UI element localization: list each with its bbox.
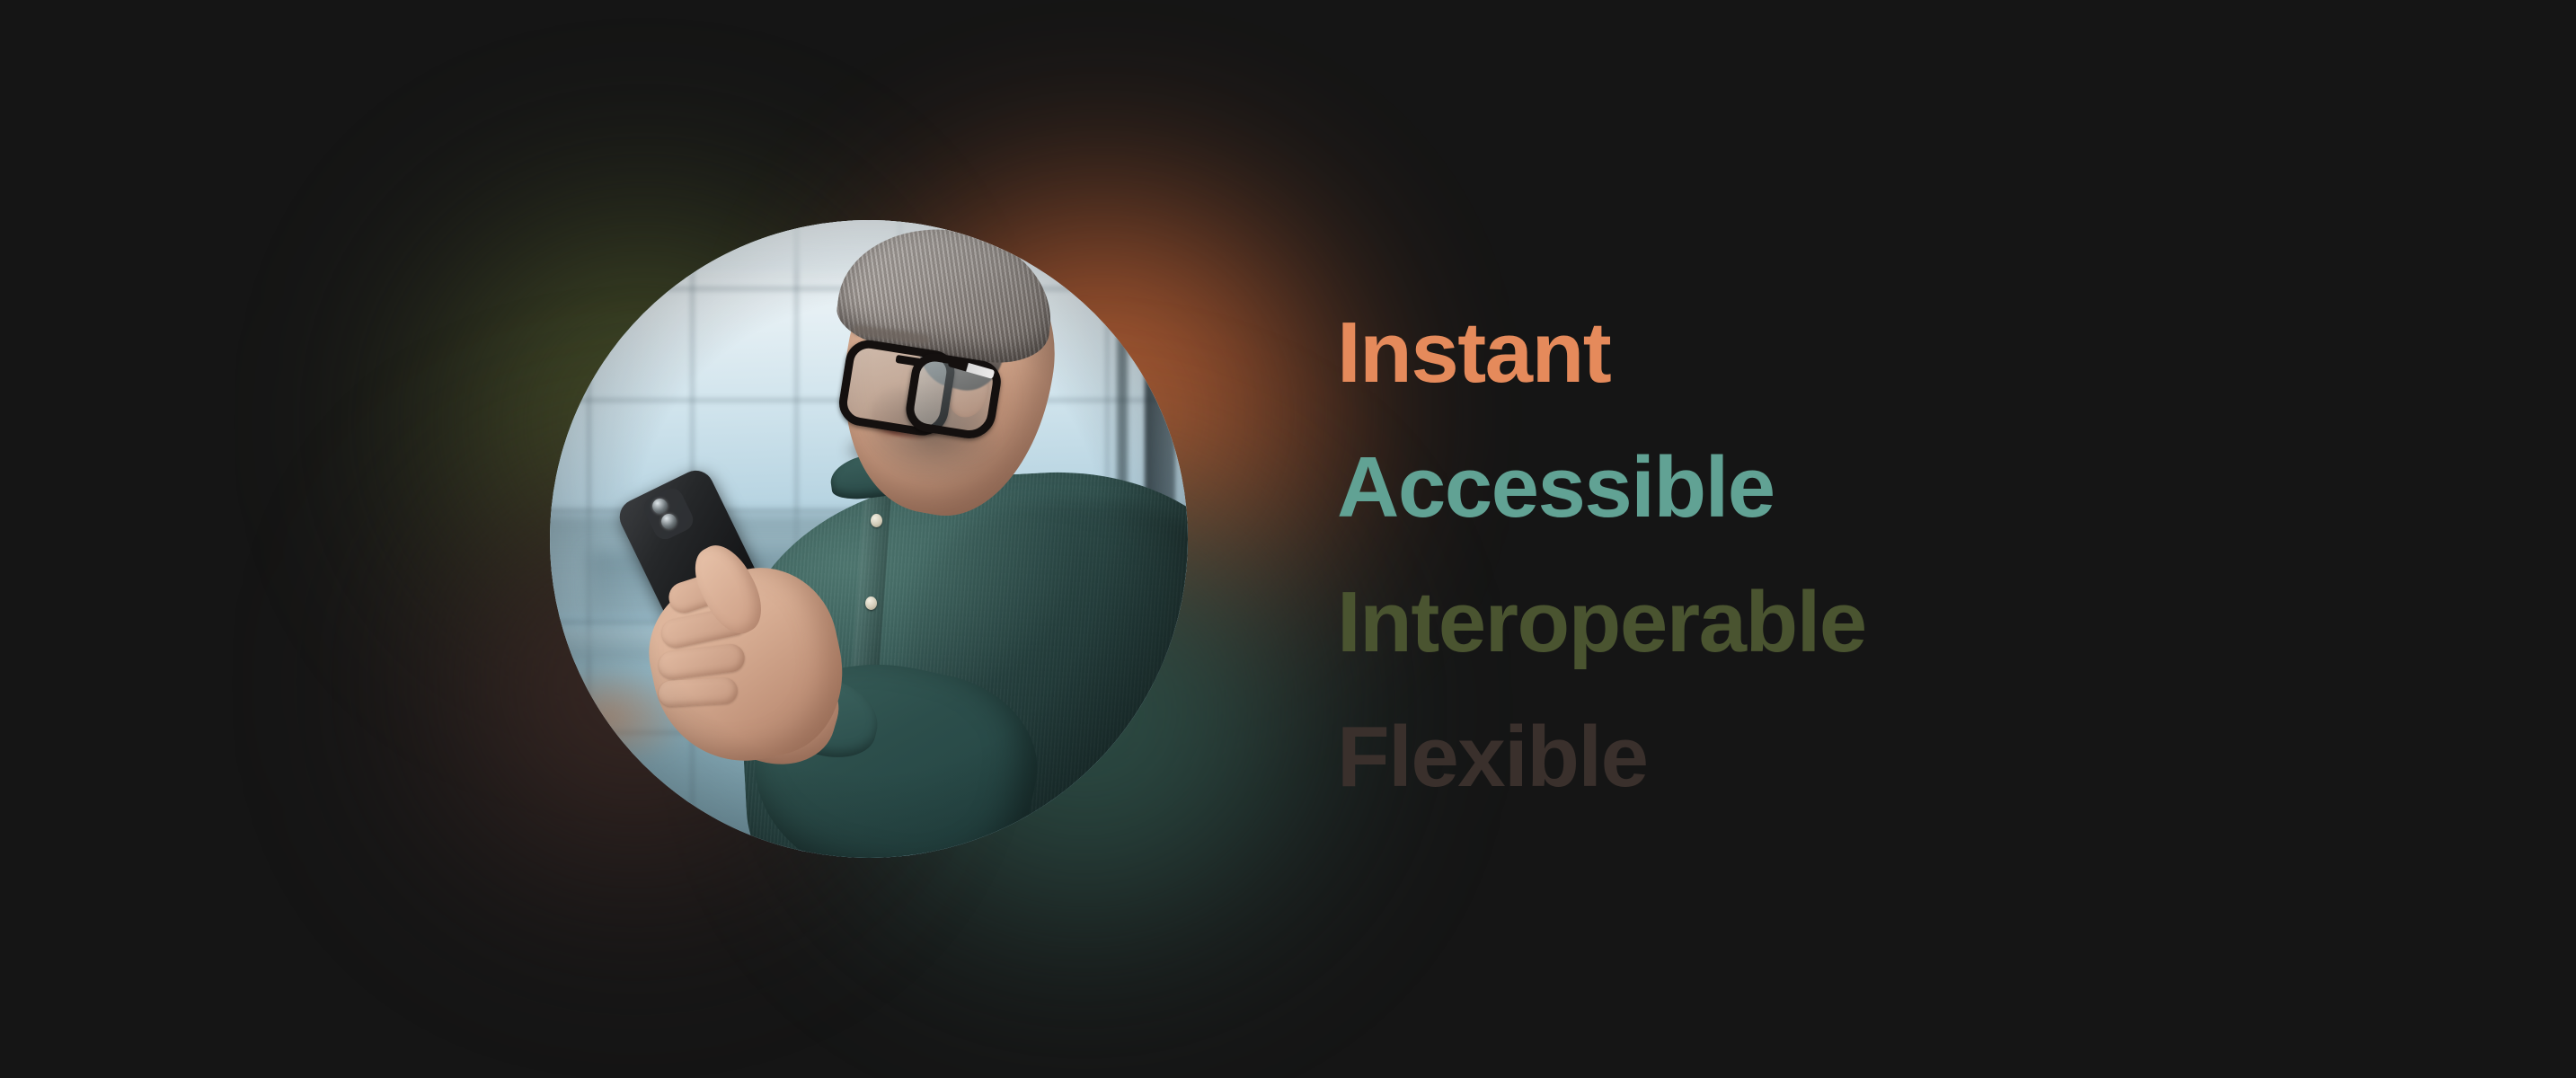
person-finger — [658, 677, 738, 708]
feature-word-list: Instant Accessible Interoperable Flexibl… — [1337, 286, 2415, 825]
feature-word-flexible: Flexible — [1337, 690, 2415, 825]
feature-word-accessible: Accessible — [1337, 420, 2415, 555]
hero-photo-image — [550, 220, 1188, 858]
smartphone-camera-lens — [661, 514, 677, 529]
smartphone-camera-lens — [652, 499, 668, 514]
photo-person — [550, 220, 1188, 858]
feature-word-interoperable: Interoperable — [1337, 555, 2415, 690]
hero-banner: Instant Accessible Interoperable Flexibl… — [0, 0, 2576, 1078]
hero-photo-circle — [550, 220, 1188, 858]
feature-word-instant: Instant — [1337, 286, 2415, 420]
